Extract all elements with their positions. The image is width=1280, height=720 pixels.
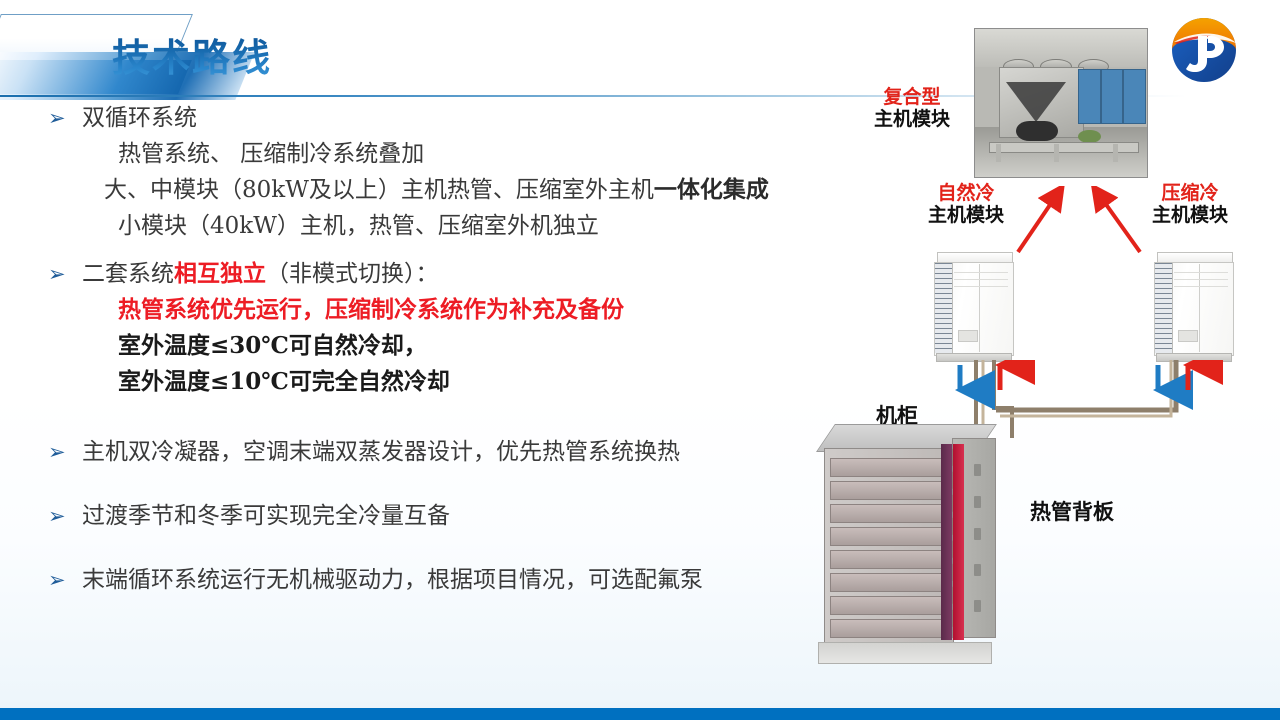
bullet-3-line-1: 主机双冷凝器，空调末端双蒸发器设计，优先热管系统换热 bbox=[82, 434, 858, 470]
bullet-5-line-1: 末端循环系统运行无机械驱动力，根据项目情况，可选配氟泵 bbox=[82, 562, 858, 598]
bullet-2-line-3: 室外温度≤30℃可自然冷却， bbox=[82, 328, 858, 364]
label-composite-module: 复合型 主机模块 bbox=[874, 86, 950, 131]
label-composite-bottom: 主机模块 bbox=[874, 108, 950, 130]
bullet-2-line-1-b: 相互独立 bbox=[174, 260, 266, 287]
outdoor-unit-icon bbox=[1154, 252, 1232, 362]
server-rack-icon bbox=[816, 424, 1016, 674]
bullet-2-line-1: 二套系统相互独立（非模式切换）： bbox=[82, 256, 858, 292]
bullet-1-line-3-b: 一体化集成 bbox=[654, 176, 769, 203]
label-heatpipe-backplate: 热管背板 bbox=[1030, 500, 1114, 525]
label-free-cooling-module: 自然冷 主机模块 bbox=[928, 182, 1004, 227]
bullet-1-line-3-a: 大、中模块（80kW及以上）主机热管、压缩室外主机 bbox=[104, 177, 654, 203]
company-logo bbox=[1166, 12, 1242, 88]
bullet-4-line-1: 过渡季节和冬季可实现完全冷量互备 bbox=[82, 498, 858, 534]
bullet-1-line-2: 热管系统、 压缩制冷系统叠加 bbox=[82, 136, 858, 172]
bullet-arrow-icon: ➢ bbox=[48, 498, 82, 534]
label-compressor-top: 压缩冷 bbox=[1152, 182, 1228, 204]
bullet-1-line-1: 双循环系统 bbox=[82, 100, 858, 136]
bullet-1-line-4: 小模块（40kW）主机，热管、压缩室外机独立 bbox=[82, 208, 858, 244]
bullet-item-1: ➢ 双循环系统 热管系统、 压缩制冷系统叠加 大、中模块（80kW及以上）主机热… bbox=[48, 100, 858, 244]
bullet-1-line-3: 大、中模块（80kW及以上）主机热管、压缩室外主机一体化集成 bbox=[82, 172, 858, 208]
bullet-item-2: ➢ 二套系统相互独立（非模式切换）： 热管系统优先运行，压缩制冷系统作为补充及备… bbox=[48, 256, 858, 400]
arrow-up-left-icon bbox=[1000, 186, 1160, 258]
page-title: 技术路线 bbox=[112, 27, 272, 82]
bullet-arrow-icon: ➢ bbox=[48, 562, 82, 598]
bullet-2-line-2: 热管系统优先运行，压缩制冷系统作为补充及备份 bbox=[82, 292, 858, 328]
label-free-cooling-top: 自然冷 bbox=[928, 182, 1004, 204]
bullet-arrow-icon: ➢ bbox=[48, 434, 82, 470]
chiller-photo bbox=[974, 28, 1148, 178]
bullet-2-line-4: 室外温度≤10℃可完全自然冷却 bbox=[82, 364, 858, 400]
bullet-list: ➢ 双循环系统 热管系统、 压缩制冷系统叠加 大、中模块（80kW及以上）主机热… bbox=[48, 100, 858, 598]
bullet-2-line-1-a: 二套系统 bbox=[82, 261, 174, 287]
heatpipe-backplate-icon bbox=[941, 444, 952, 640]
bullet-arrow-icon: ➢ bbox=[48, 256, 82, 292]
label-compressor-bottom: 主机模块 bbox=[1152, 204, 1228, 226]
bullet-item-5: ➢ 末端循环系统运行无机械驱动力，根据项目情况，可选配氟泵 bbox=[48, 562, 858, 598]
bullet-arrow-icon: ➢ bbox=[48, 100, 82, 136]
bullet-item-4: ➢ 过渡季节和冬季可实现完全冷量互备 bbox=[48, 498, 858, 534]
label-compressor-module: 压缩冷 主机模块 bbox=[1152, 182, 1228, 227]
label-free-cooling-bottom: 主机模块 bbox=[928, 204, 1004, 226]
outdoor-unit-icon bbox=[934, 252, 1012, 362]
bullet-item-3: ➢ 主机双冷凝器，空调末端双蒸发器设计，优先热管系统换热 bbox=[48, 434, 858, 470]
footer-accent-bar bbox=[0, 708, 1280, 720]
slide-canvas: 技术路线 ➢ 双循环系统 热管系 bbox=[0, 0, 1280, 720]
bullet-2-line-1-c: （非模式切换）： bbox=[266, 261, 439, 287]
label-composite-top: 复合型 bbox=[874, 86, 950, 108]
heatpipe-backplate-red-icon bbox=[953, 444, 964, 640]
